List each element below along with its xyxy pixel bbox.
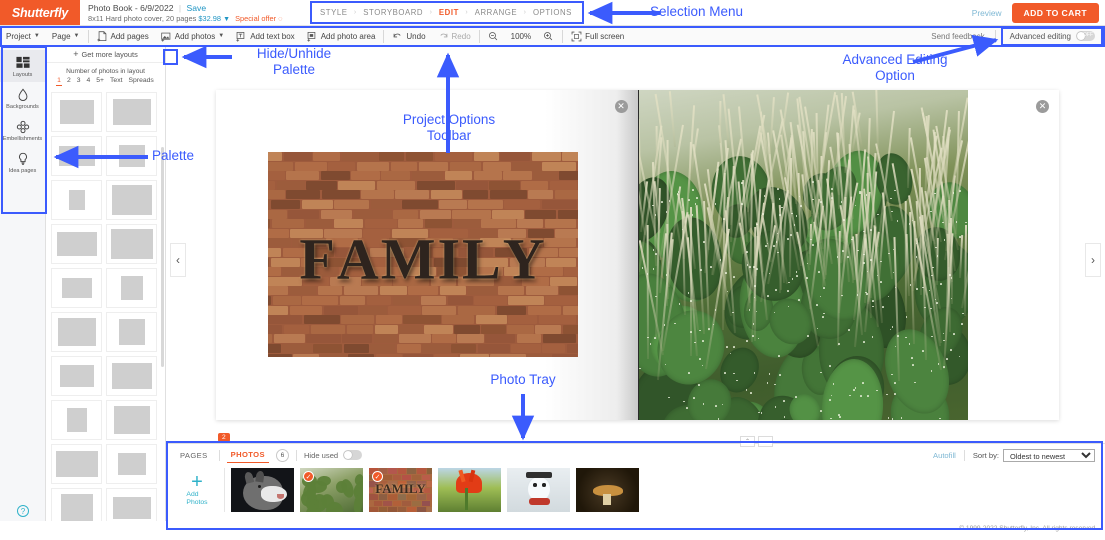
- layout-placeholder: [58, 318, 96, 346]
- brick: [504, 200, 540, 209]
- cactus-spine: [822, 316, 824, 318]
- brick: [503, 171, 532, 180]
- cactus-spine: [862, 382, 864, 384]
- cactus-spine: [942, 222, 944, 224]
- layout-thumbnail[interactable]: [106, 444, 157, 484]
- add-photos-button[interactable]: Add photos ▼: [155, 26, 230, 46]
- layout-placeholder: [119, 145, 145, 167]
- add-to-cart-button[interactable]: ADD TO CART: [1012, 3, 1099, 23]
- brick: [321, 210, 353, 219]
- brick: [321, 171, 350, 180]
- get-more-layouts-button[interactable]: + Get more layouts: [46, 47, 165, 63]
- tray-scroll-buttons: ⌃ ⌄: [740, 436, 773, 447]
- brick: [458, 306, 495, 315]
- cactus-photo[interactable]: ✓: [300, 468, 363, 512]
- chevron-down-icon[interactable]: ▼: [223, 16, 230, 23]
- cactus-spine: [818, 271, 820, 273]
- cactus-spine: [688, 292, 690, 294]
- redo-icon: [438, 31, 449, 42]
- cactus-spine: [936, 302, 938, 304]
- brick: [485, 334, 515, 343]
- help-icon[interactable]: ?: [17, 505, 29, 517]
- menu-item-arrange[interactable]: ARRANGE: [475, 8, 517, 17]
- tray-scroll-up-button[interactable]: ⌃: [740, 436, 755, 447]
- sidebar-item-layouts[interactable]: Layouts: [0, 50, 46, 82]
- grass-blade: [647, 225, 649, 359]
- next-page-button[interactable]: ›: [1085, 243, 1101, 277]
- brick: [525, 210, 556, 219]
- brick: [431, 190, 462, 199]
- cactus-spine: [715, 405, 717, 407]
- hide-used-knob: [344, 451, 353, 460]
- cactus-spine: [790, 234, 792, 236]
- hide-used-group: Hide used: [304, 450, 362, 460]
- sidebar-item-embellishments[interactable]: Embellishments: [0, 114, 46, 146]
- cactus-spine: [749, 266, 751, 268]
- photo-count-badge: 6: [276, 449, 289, 462]
- cactus-spine: [829, 399, 831, 401]
- plus-icon-tray: +: [191, 473, 203, 491]
- filter-5plus[interactable]: 5+: [95, 77, 105, 86]
- brick: [422, 306, 456, 315]
- brick: [508, 296, 544, 305]
- cactus-spine: [848, 329, 850, 331]
- cactus-spine: [820, 410, 822, 412]
- brick: [417, 181, 455, 190]
- brick: [347, 325, 373, 334]
- photo-tray: 2 ⌃ ⌄ PAGES PHOTOS 6 Hide used Autofill …: [166, 443, 1105, 521]
- add-pages-label: Add pages: [111, 32, 149, 41]
- cactus-spine: [930, 308, 932, 310]
- brick: [268, 210, 287, 219]
- brick-row: [268, 315, 578, 324]
- zoom-out-button[interactable]: [482, 26, 505, 46]
- cactus-spine: [692, 189, 694, 191]
- zoom-level[interactable]: 100%: [505, 26, 537, 46]
- sort-by-select[interactable]: Oldest to newest: [1003, 449, 1095, 462]
- layout-thumbnail[interactable]: [51, 356, 102, 396]
- brick: [399, 334, 431, 343]
- brick: [512, 162, 541, 171]
- cactus-spine: [733, 276, 735, 278]
- cactus-spine: [882, 306, 884, 308]
- left-page[interactable]: FAMILY ✕: [216, 90, 638, 420]
- add-text-box-button[interactable]: Add text box: [230, 26, 300, 46]
- cactus-spine: [796, 271, 798, 273]
- filter-spreads[interactable]: Spreads: [128, 77, 155, 86]
- cactus-spine: [796, 275, 798, 277]
- brick: [306, 334, 340, 343]
- palette-rail: Layouts Backgrounds Embellishments Idea …: [0, 47, 46, 214]
- filter-1[interactable]: 1: [56, 77, 62, 86]
- save-link[interactable]: Save: [187, 3, 207, 13]
- brick: [374, 334, 398, 343]
- filter-4[interactable]: 4: [86, 77, 92, 86]
- cactus-spine: [816, 304, 818, 306]
- layout-placeholder: [60, 100, 94, 124]
- preview-link[interactable]: Preview: [972, 8, 1002, 18]
- cactus-spine: [806, 277, 808, 279]
- menu-item-storyboard[interactable]: STORYBOARD: [363, 8, 423, 17]
- brick: [295, 162, 327, 171]
- droplet-icon: [15, 87, 30, 102]
- brick: [268, 315, 302, 324]
- layout-thumbnail[interactable]: [106, 92, 157, 132]
- brick: [268, 325, 282, 334]
- add-photo-area-label: Add photo area: [321, 32, 376, 41]
- brick: [424, 325, 452, 334]
- cactus-spine: [655, 253, 657, 255]
- toolbar-divider-1: [88, 30, 89, 43]
- brick: [403, 315, 441, 324]
- toolbar-right-group: Send feedback Advanced editing OFF: [931, 29, 1105, 43]
- layout-placeholder: [62, 278, 92, 298]
- tab-photos[interactable]: PHOTOS: [227, 447, 269, 463]
- layout-placeholder: [114, 406, 150, 434]
- brick: [268, 306, 288, 315]
- used-check-icon: ✓: [303, 471, 314, 482]
- text-box-icon: [236, 31, 247, 42]
- cactus-photo[interactable]: [638, 90, 968, 420]
- brick-row: [268, 171, 578, 180]
- brick: [552, 354, 576, 357]
- brick: [490, 354, 526, 357]
- layout-thumbnail-grid: [46, 86, 165, 540]
- autofill-link[interactable]: Autofill: [933, 451, 956, 460]
- brick: [273, 296, 301, 305]
- page-canvas: ‹ › FAMILY ✕ ✕ 3: [166, 47, 1105, 430]
- brick: [457, 334, 483, 343]
- brick: [542, 344, 565, 353]
- tray-divider-1: [219, 450, 220, 461]
- redo-button[interactable]: Redo: [432, 26, 477, 46]
- brick: [290, 306, 323, 315]
- cactus-spine: [679, 303, 681, 305]
- send-feedback-link[interactable]: Send feedback: [931, 32, 984, 41]
- cactus-spine: [847, 256, 849, 258]
- chevron-right-icon-1: ›: [354, 9, 357, 16]
- brick: [397, 344, 421, 353]
- snowman-photo[interactable]: [507, 468, 570, 512]
- brick: [342, 152, 378, 161]
- brick: [528, 306, 561, 315]
- add-photos-tray-button[interactable]: + Add Photos: [176, 473, 218, 507]
- zoom-in-button[interactable]: [537, 26, 560, 46]
- red-flower-photo[interactable]: [438, 468, 501, 512]
- cactus-spine: [773, 245, 775, 247]
- cactus-spine: [781, 207, 783, 209]
- brick: [268, 200, 270, 209]
- cactus-spine: [752, 335, 754, 337]
- brick: [532, 152, 561, 161]
- brick: [268, 296, 271, 305]
- page-spread: FAMILY ✕ ✕ 3: [216, 90, 1059, 420]
- tray-scroll-down-button[interactable]: ⌄: [758, 436, 773, 447]
- project-options-toolbar: Project ▼ Page ▼ Add pages Add photos ▼ …: [0, 26, 1105, 47]
- grass-blade: [719, 101, 721, 143]
- brick: [274, 334, 305, 343]
- chevron-down-icon-page: ▼: [74, 33, 80, 39]
- brick: [268, 344, 281, 353]
- page-menu-label: Page: [52, 32, 71, 41]
- layout-thumbnail[interactable]: [51, 136, 102, 176]
- cactus-spine: [831, 188, 833, 190]
- cactus-spine: [690, 300, 692, 302]
- layout-thumbnail[interactable]: [51, 180, 102, 220]
- brick: [288, 210, 319, 219]
- cactus-spine: [943, 366, 945, 368]
- brick-row: [268, 296, 578, 305]
- brick: [490, 190, 527, 199]
- brick: [268, 334, 272, 343]
- cactus-spine: [863, 341, 865, 343]
- brick: [321, 354, 347, 357]
- tab-pages[interactable]: PAGES: [176, 448, 212, 463]
- menu-item-options[interactable]: OPTIONS: [533, 8, 572, 17]
- brick: [456, 181, 488, 190]
- brick: [476, 315, 507, 324]
- cactus-spine: [710, 266, 712, 268]
- brick: [304, 315, 340, 324]
- shutterfly-logo[interactable]: Shutterfly: [0, 0, 80, 25]
- filter-2[interactable]: 2: [66, 77, 72, 86]
- brick: [284, 325, 310, 334]
- chevron-right-icon-4: ›: [524, 9, 527, 16]
- layout-thumbnail[interactable]: [106, 224, 157, 264]
- brick: [306, 181, 337, 190]
- filter-text[interactable]: Text: [109, 77, 123, 86]
- brick: [563, 325, 579, 334]
- hide-used-toggle[interactable]: [343, 450, 362, 460]
- cactus-spine: [886, 394, 888, 396]
- brick: [379, 152, 404, 161]
- cactus-spine: [779, 214, 781, 216]
- cactus-spine: [754, 285, 756, 287]
- brick: [367, 296, 392, 305]
- brick: [388, 306, 421, 315]
- right-page[interactable]: ✕ 3: [638, 90, 1060, 420]
- cactus-spine: [733, 346, 735, 348]
- zoom-out-icon: [488, 31, 499, 42]
- cactus-spine: [795, 396, 797, 398]
- cactus-spine: [778, 355, 780, 357]
- add-photo-area-button[interactable]: Add photo area: [301, 26, 382, 46]
- special-offer-link[interactable]: Special offer: [235, 14, 276, 23]
- brick: [555, 190, 578, 199]
- brick: [460, 354, 489, 357]
- layout-placeholder: [67, 408, 87, 432]
- brick: [481, 325, 506, 334]
- brick: [559, 171, 578, 180]
- used-check-icon: ✓: [372, 471, 383, 482]
- product-price: $32.98: [198, 14, 221, 23]
- close-left-page-button[interactable]: ✕: [615, 100, 628, 113]
- brick: [328, 162, 355, 171]
- brick: [435, 152, 473, 161]
- cactus-spine: [922, 350, 924, 352]
- brick-row: [268, 334, 578, 343]
- brick: [421, 296, 446, 305]
- cactus-spine: [953, 333, 955, 335]
- cactus-spine: [892, 326, 894, 328]
- family-brick-sign-photo[interactable]: FAMILY✓: [369, 468, 432, 512]
- cactus-spine: [833, 383, 835, 385]
- palette-panel: + Get more layouts Number of photos in l…: [46, 47, 166, 540]
- cactus-spine: [916, 288, 918, 290]
- filter-title: Number of photos in layout: [46, 68, 165, 75]
- page-menu-button[interactable]: Page ▼: [46, 26, 86, 46]
- brick: [399, 325, 423, 334]
- cactus-spine: [894, 393, 896, 395]
- brick-row: [268, 162, 578, 171]
- brick: [442, 315, 474, 324]
- layouts-icon: [15, 55, 30, 70]
- brick: [377, 181, 415, 190]
- cactus-spine: [700, 269, 702, 271]
- chevron-right-icon-2: ›: [430, 9, 433, 16]
- brick: [340, 296, 365, 305]
- cactus-spine: [754, 372, 756, 374]
- add-pages-button[interactable]: Add pages: [91, 26, 155, 46]
- cactus-spine: [935, 247, 937, 249]
- layout-placeholder: [59, 146, 95, 166]
- brick: [348, 354, 374, 357]
- brick: [403, 354, 433, 357]
- brick: [268, 152, 282, 161]
- brick: [507, 325, 533, 334]
- brick: [268, 162, 293, 171]
- cactus-spine: [812, 244, 814, 246]
- layout-placeholder: [112, 363, 152, 389]
- cactus-spine: [695, 203, 697, 205]
- brick: [286, 190, 320, 199]
- toolbar-divider-4: [562, 30, 563, 43]
- cactus-spine: [959, 190, 961, 192]
- copyright-text: © 1999-2022 Shutterfly, Inc. All rights …: [959, 525, 1097, 532]
- brick: [543, 334, 577, 343]
- brick: [419, 162, 449, 171]
- layout-thumbnail[interactable]: [106, 136, 157, 176]
- brick: [376, 315, 402, 324]
- sidebar-label-layouts: Layouts: [13, 72, 33, 78]
- footer: © 1999-2022 Shutterfly, Inc. All rights …: [0, 521, 1105, 540]
- layout-thumbnail[interactable]: [51, 92, 102, 132]
- cactus-spine: [839, 416, 841, 418]
- brick: [521, 181, 548, 190]
- brick: [313, 152, 340, 161]
- sidebar-label-embellishments: Embellishments: [3, 136, 42, 142]
- project-menu-button[interactable]: Project ▼: [0, 26, 46, 46]
- cactus-spine: [914, 382, 916, 384]
- cactus-spine: [911, 357, 913, 359]
- cactus-spine: [686, 407, 688, 409]
- family-brick-photo[interactable]: FAMILY: [268, 152, 578, 357]
- full-screen-button[interactable]: Full screen: [565, 26, 630, 46]
- mushroom-photo[interactable]: [576, 468, 639, 512]
- sort-by-group: Sort by: Oldest to newest: [973, 449, 1095, 462]
- get-more-layouts-label: Get more layouts: [81, 50, 137, 59]
- cactus-spine: [870, 229, 872, 231]
- cactus-spine: [756, 268, 758, 270]
- undo-button[interactable]: Undo: [386, 26, 431, 46]
- brick: [508, 315, 537, 324]
- brick: [376, 354, 402, 357]
- plus-icon: +: [73, 50, 78, 59]
- cactus-spine: [767, 295, 769, 297]
- family-letter: A: [337, 225, 381, 292]
- app-header: Shutterfly Photo Book - 6/9/2022 | Save …: [0, 0, 1105, 26]
- cactus-spine: [654, 337, 656, 339]
- layout-placeholder: [57, 232, 97, 256]
- brick-row: [268, 181, 578, 190]
- flower-icon: [15, 119, 30, 134]
- palette-scrollbar[interactable]: [161, 147, 164, 367]
- layout-thumbnail[interactable]: [51, 400, 102, 440]
- cactus-spine: [870, 259, 872, 261]
- brick: [302, 200, 333, 209]
- cactus-spine: [668, 397, 670, 399]
- tray-thumb-divider: [224, 468, 225, 512]
- cactus-spine: [661, 201, 663, 203]
- filter-3[interactable]: 3: [76, 77, 82, 86]
- layout-thumbnail[interactable]: [51, 224, 102, 264]
- menu-item-edit[interactable]: EDIT: [439, 8, 459, 17]
- sidebar-label-backgrounds: Backgrounds: [6, 104, 39, 110]
- layout-thumbnail[interactable]: [51, 268, 102, 308]
- previous-page-button[interactable]: ‹: [170, 243, 186, 277]
- brick: [341, 315, 374, 324]
- sidebar-item-idea-pages[interactable]: Idea pages: [0, 146, 46, 178]
- palette-rail-filler: [0, 214, 46, 540]
- husky-dog-photo[interactable]: [231, 468, 294, 512]
- layout-thumbnail[interactable]: [106, 268, 157, 308]
- cactus-spine: [909, 343, 911, 345]
- cactus-spine: [750, 392, 752, 394]
- brick: [567, 344, 578, 353]
- cactus-spine: [787, 290, 789, 292]
- brick: [439, 200, 466, 209]
- brick: [474, 171, 502, 180]
- layout-thumbnail[interactable]: [51, 444, 102, 484]
- tray-header: PAGES PHOTOS 6 Hide used Autofill Sort b…: [166, 444, 1105, 466]
- layout-thumbnail[interactable]: [106, 400, 157, 440]
- close-right-page-button[interactable]: ✕: [1036, 100, 1049, 113]
- layout-thumbnail[interactable]: [106, 312, 157, 352]
- brick: [422, 344, 450, 353]
- cactus-spine: [951, 277, 953, 279]
- cactus-spine: [812, 181, 814, 183]
- advanced-editing-toggle[interactable]: OFF: [1076, 31, 1095, 41]
- sidebar-item-backgrounds[interactable]: Backgrounds: [0, 82, 46, 114]
- menu-item-style[interactable]: STYLE: [320, 8, 347, 17]
- family-text: FAMILY: [268, 225, 578, 292]
- brick: [434, 354, 458, 357]
- brick: [381, 171, 410, 180]
- brick: [402, 200, 438, 209]
- layout-thumbnail[interactable]: [106, 356, 157, 396]
- brick-row: [268, 354, 578, 357]
- brick-row: [268, 325, 578, 334]
- brick-row: [268, 200, 578, 209]
- add-photos-tray-label: Add Photos: [186, 491, 207, 507]
- toolbar-divider-3: [479, 30, 480, 43]
- cactus-spine: [741, 182, 743, 184]
- layout-thumbnail[interactable]: [51, 312, 102, 352]
- layout-thumbnail[interactable]: [106, 180, 157, 220]
- brick: [322, 190, 360, 199]
- project-menu-label: Project: [6, 32, 31, 41]
- brick: [432, 334, 456, 343]
